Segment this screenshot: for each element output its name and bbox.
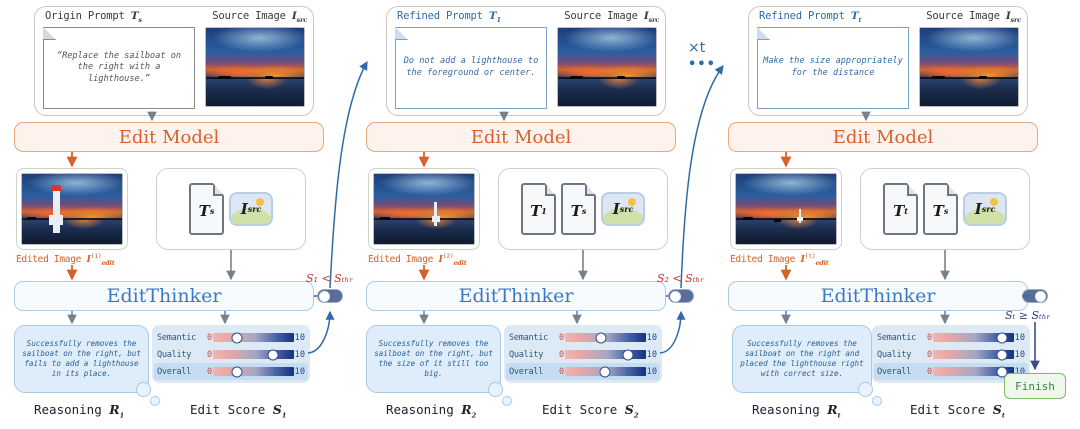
prompt-text-1: “Replace the sailboat on the right with … (49, 51, 189, 86)
reasoning-caption-1: Reasoning R1 (34, 402, 124, 420)
score-panel-1: Semantic 0 10 Quality 0 10 Overall 0 10 (152, 325, 310, 383)
edited-image-caption-2: Edited Image I(2)edit (368, 252, 480, 267)
source-header-1: Source Image Isrc (212, 10, 307, 24)
prompt-note-2: Do not add a lighthouse to the foregroun… (395, 27, 547, 109)
threshold-label-3: Sₜ ≥ Sₜₕᵣ (1005, 309, 1050, 322)
source-image-1 (205, 27, 305, 107)
document-icon-ts: Ts (923, 183, 958, 235)
edited-image-2 (368, 168, 480, 250)
edited-image-3 (730, 168, 842, 250)
input-card-1: Origin Prompt Ts Source Image Isrc “Repl… (34, 6, 314, 116)
stage-column-3: Refined Prompt Tt Source Image Isrc Make… (720, 0, 1050, 429)
reasoning-bubble-2: Successfully removes the sailboat on the… (366, 325, 501, 393)
edited-image-block-1: Edited Image I(1)edit (16, 168, 128, 267)
document-icon-ts: Ts (189, 183, 224, 235)
reasoning-caption-2: Reasoning R2 (386, 402, 476, 420)
score-slider-semantic[interactable] (213, 333, 293, 342)
bubble-tail-large (858, 382, 873, 397)
bubble-tail-small (502, 396, 512, 406)
gate-toggle-2[interactable] (668, 289, 694, 303)
page-fold-icon (757, 27, 770, 40)
edited-image-1 (16, 168, 128, 250)
score-slider-semantic[interactable] (565, 333, 645, 342)
edited-image-caption-3: Edited Image I(t)edit (730, 252, 842, 267)
editthinker-box-3[interactable]: EditThinker (728, 281, 1028, 311)
source-header-2: Source Image Isrc (564, 10, 659, 24)
score-slider-overall[interactable] (565, 367, 645, 376)
score-row[interactable]: Quality 0 10 (157, 346, 305, 363)
edit-model-box-3[interactable]: Edit Model (728, 122, 1038, 152)
editthinker-box-1[interactable]: EditThinker (14, 281, 314, 311)
edited-thumb-3 (735, 173, 837, 245)
document-icon-tt: Tt (883, 183, 918, 235)
image-icon-isrc: Isrc (229, 192, 273, 226)
bubble-tail-small (872, 396, 882, 406)
gate-toggle-3[interactable] (1022, 289, 1048, 303)
reasoning-bubble-3: Successfully removes the sailboat on the… (732, 325, 872, 393)
edited-thumb-2 (373, 173, 475, 245)
score-row[interactable]: Quality 0 10 (509, 346, 657, 363)
edited-image-block-3: Edited Image I(t)edit (730, 168, 842, 267)
page-fold-icon (395, 27, 408, 40)
score-slider-overall[interactable] (213, 367, 293, 376)
threshold-label-2: S₂ < Sₜₕᵣ (657, 272, 704, 285)
editthinker-box-2[interactable]: EditThinker (366, 281, 666, 311)
prompt-note-3: Make the size appropriately for the dist… (757, 27, 909, 109)
score-slider-overall[interactable] (933, 367, 1013, 376)
input-card-3: Refined Prompt Tt Source Image Isrc Make… (748, 6, 1028, 116)
stage-column-2: Refined Prompt T1 Source Image Isrc Do n… (358, 0, 688, 429)
edited-thumb-1 (21, 173, 123, 245)
context-card-3: Tt Ts Isrc (860, 168, 1030, 250)
prompt-header-3: Refined Prompt Tt (759, 10, 861, 24)
prompt-text-2: Do not add a lighthouse to the foregroun… (401, 56, 541, 79)
prompt-text-3: Make the size appropriately for the dist… (763, 56, 903, 79)
bubble-tail-large (488, 382, 503, 397)
score-slider-quality[interactable] (565, 350, 645, 359)
score-panel-2: Semantic 0 10 Quality 0 10 Overall 0 10 (504, 325, 662, 383)
source-image-3 (919, 27, 1019, 107)
score-row[interactable]: Semantic 0 10 (877, 329, 1025, 346)
edit-model-box-2[interactable]: Edit Model (366, 122, 676, 152)
reasoning-bubble-1: Successfully removes the sailboat on the… (14, 325, 149, 393)
reasoning-text-2: Successfully removes the sailboat on the… (373, 339, 494, 380)
score-caption-1: Edit Score S1 (190, 402, 286, 420)
stage-column-1: Origin Prompt Ts Source Image Isrc “Repl… (6, 0, 336, 429)
input-card-2: Refined Prompt T1 Source Image Isrc Do n… (386, 6, 666, 116)
document-icon-ts: Ts (561, 183, 596, 235)
score-caption-3: Edit Score St (910, 402, 1005, 420)
score-slider-quality[interactable] (933, 350, 1013, 359)
edited-image-caption-1: Edited Image I(1)edit (16, 252, 128, 267)
score-row[interactable]: Semantic 0 10 (509, 329, 657, 346)
threshold-label-1: S₁ < Sₜₕᵣ (306, 272, 353, 285)
score-row[interactable]: Semantic 0 10 (157, 329, 305, 346)
prompt-header-2: Refined Prompt T1 (397, 10, 501, 24)
image-icon-isrc: Isrc (601, 192, 645, 226)
reasoning-text-1: Successfully removes the sailboat on the… (21, 339, 142, 380)
document-icon-t1: T1 (521, 183, 556, 235)
score-slider-quality[interactable] (213, 350, 293, 359)
page-fold-icon (43, 27, 56, 40)
score-caption-2: Edit Score S2 (542, 402, 638, 420)
bubble-tail-large (136, 382, 151, 397)
score-row[interactable]: Overall 0 10 (154, 363, 308, 380)
score-slider-semantic[interactable] (933, 333, 1013, 342)
score-row[interactable]: Overall 0 10 (506, 363, 660, 380)
edit-model-box-1[interactable]: Edit Model (14, 122, 324, 152)
bubble-tail-small (150, 396, 160, 406)
prompt-header-1: Origin Prompt Ts (45, 10, 142, 24)
score-row[interactable]: Quality 0 10 (877, 346, 1025, 363)
gate-toggle-1[interactable] (317, 289, 343, 303)
edited-image-block-2: Edited Image I(2)edit (368, 168, 480, 267)
finish-button[interactable]: Finish (1004, 373, 1066, 399)
source-header-3: Source Image Isrc (926, 10, 1021, 24)
context-card-1: Ts Isrc (156, 168, 306, 250)
reasoning-caption-3: Reasoning Rt (752, 402, 841, 420)
diagram-canvas: Origin Prompt Ts Source Image Isrc “Repl… (0, 0, 1080, 429)
source-image-2 (557, 27, 657, 107)
context-card-2: T1 Ts Isrc (498, 168, 668, 250)
loop-count-label: ×t ••• (688, 40, 716, 72)
reasoning-text-3: Successfully removes the sailboat on the… (739, 339, 865, 380)
prompt-note-1: “Replace the sailboat on the right with … (43, 27, 195, 109)
image-icon-isrc: Isrc (963, 192, 1007, 226)
